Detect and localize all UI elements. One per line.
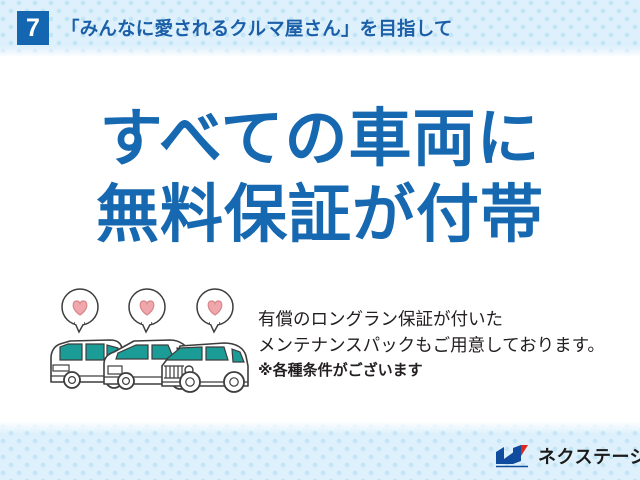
nextage-n-logo-icon — [495, 444, 531, 468]
headline-line-2: 無料保証が付帯 — [0, 184, 640, 247]
three-cars-illustration — [48, 288, 253, 396]
body-copy-line-2: メンテナンスパックもご用意しております。 — [258, 332, 630, 358]
body-copy-line-1: 有償のロングラン保証が付いた — [258, 306, 630, 332]
heart-speech-bubble-2 — [129, 289, 165, 332]
brand-logo: ネクステージ — [495, 443, 640, 469]
header-title: 「みんなに愛されるクルマ屋さん」を目指して — [61, 15, 453, 41]
body-copy: 有償のロングラン保証が付いた メンテナンスパックもご用意しております。 ※各種条… — [258, 306, 630, 384]
heart-speech-bubble-1 — [62, 289, 98, 332]
bottom-band-fade — [0, 422, 640, 434]
step-number-badge: 7 — [17, 11, 49, 45]
heart-speech-bubble-3 — [197, 289, 233, 332]
headline-line-1: すべての車両に — [0, 108, 640, 171]
body-copy-note: ※各種条件がございます — [258, 358, 630, 384]
promo-poster: 7 「みんなに愛されるクルマ屋さん」を目指して すべての車両に 無料保証が付帯 — [0, 0, 640, 480]
header: 7 「みんなに愛されるクルマ屋さん」を目指して — [0, 0, 640, 56]
brand-name: ネクステージ — [538, 443, 640, 469]
